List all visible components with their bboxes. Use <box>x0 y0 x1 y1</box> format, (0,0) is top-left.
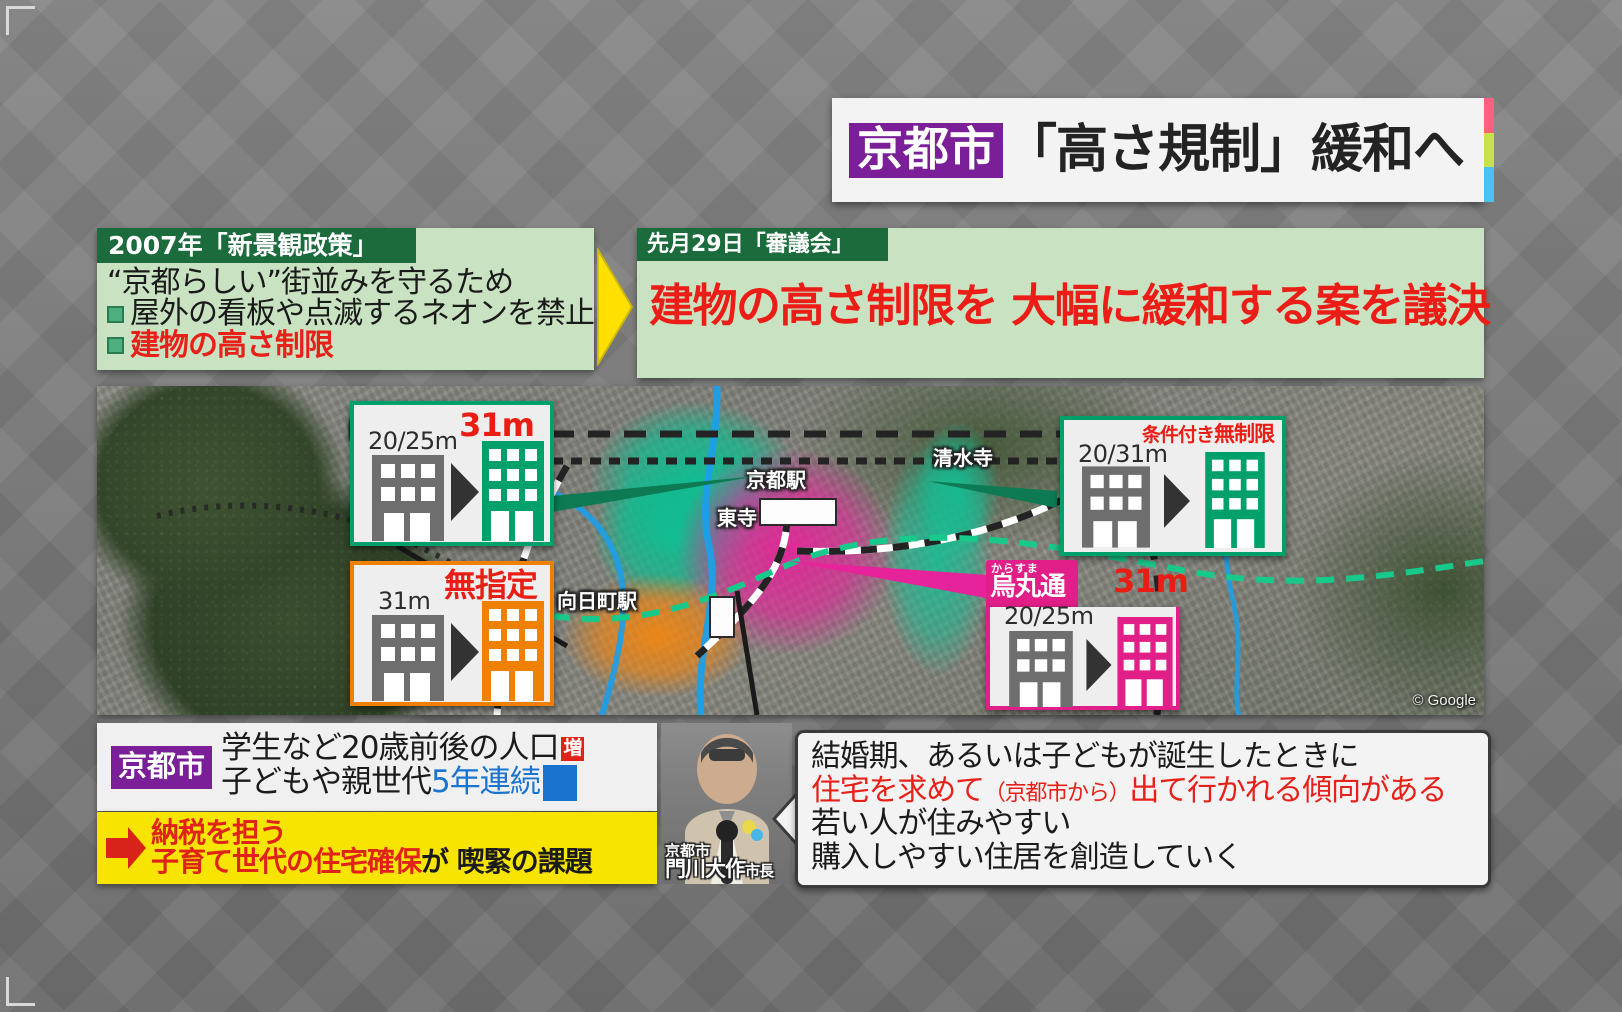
stats-line2-chip: 減 <box>543 765 577 801</box>
building-before-icon <box>1082 466 1150 548</box>
title-color-stripes <box>1484 98 1494 202</box>
panel-2007-tag: 2007年「新景観政策」 <box>97 228 416 263</box>
card-green-left-new-label: 31m <box>459 409 534 441</box>
quote-line-2: 住宅を求めて（京都市から）出て行かれる傾向がある <box>811 774 1488 808</box>
card-green-right-new-label: 条件付き無制限 <box>1142 424 1274 445</box>
quote-line-3: 若い人が住みやすい <box>811 807 1488 841</box>
quote-line2-c: 出て行かれる傾向がある <box>1129 773 1446 808</box>
panel-conclusion: 納税を担う 子育て世代の住宅確保が 喫緊の課題 <box>97 812 657 884</box>
frame-corner-bottom-left <box>6 977 35 1006</box>
bullet-square-icon <box>107 306 124 323</box>
card-pink-old-label: 20/25m <box>1004 604 1094 628</box>
building-after-icon <box>482 441 544 541</box>
stats-line-1: 学生など20歳前後の人口 増 <box>221 733 584 765</box>
card-orange-old-label: 31m <box>378 589 430 613</box>
title-city-badge: 京都市 <box>849 123 1003 178</box>
map-attribution: © Google <box>1412 692 1476 709</box>
stats-line1-chip: 増 <box>561 737 584 761</box>
card-green-left-old-label: 20/25m <box>368 429 458 453</box>
panel-population-stats: 京都市 学生など20歳前後の人口 増 子どもや親世代 5年連続 減 <box>97 723 657 811</box>
building-after-icon <box>1204 452 1266 548</box>
transition-arrow-icon <box>451 463 479 521</box>
building-before-icon <box>372 615 444 701</box>
panel-2007-line1: “京都らしい”街並みを守るため <box>107 267 594 299</box>
map-label-kyoto-station: 京都駅 <box>746 470 806 490</box>
page-title: 京都市 「高さ規制」緩和へ <box>832 98 1484 202</box>
stats-line-2: 子どもや親世代 5年連続 減 <box>221 765 584 801</box>
map-label-mukomachi-station: 向日町駅 <box>557 591 637 611</box>
panel-shingikai-tag: 先月29日「審議会」 <box>637 228 888 261</box>
map-label-kiyomizudera: 清水寺 <box>933 448 993 468</box>
building-before-icon <box>1006 631 1076 707</box>
card-pink-new-label: 31m <box>1113 565 1188 597</box>
red-arrow-icon <box>106 825 146 871</box>
card-green-left[interactable]: 20/25m 31m <box>350 401 554 546</box>
conclusion-line-2: 子育て世代の住宅確保が 喫緊の課題 <box>151 848 592 877</box>
conclusion-line-1: 納税を担う <box>151 819 592 848</box>
card-green-right-new-prefix: 条件付き <box>1142 424 1214 446</box>
quote-line2-a: 住宅を求めて <box>811 773 984 808</box>
building-after-icon <box>1116 617 1174 706</box>
title-headline: 「高さ規制」緩和へ <box>1005 124 1464 176</box>
quote-line-4: 購入しやすい住居を創造していく <box>811 841 1488 875</box>
building-after-icon <box>482 601 544 701</box>
map-label-toji: 東寺 <box>717 508 757 528</box>
conclusion-line2-black: が 喫緊の課題 <box>421 845 592 878</box>
mayor-name: 門川大作市長 <box>665 859 773 881</box>
station-marker <box>709 596 735 638</box>
transition-arrow-icon <box>451 623 479 681</box>
panel-2007-line3: 建物の高さ制限 <box>130 330 333 362</box>
card-orange-new-label: 無指定 <box>444 569 537 601</box>
card-orange[interactable]: 31m 無指定 <box>350 561 554 706</box>
transition-arrow-icon <box>1086 639 1112 691</box>
panel-shingikai-headline: 建物の高さ制限を 大幅に緩和する案を議決 <box>637 261 1484 328</box>
building-before-icon <box>372 455 444 541</box>
panel-2007-policy: 2007年「新景観政策」 “京都らしい”街並みを守るため 屋外の看板や点滅するネ… <box>97 228 594 370</box>
station-marker <box>759 498 837 526</box>
stats-line2-text: 子どもや親世代 <box>221 767 431 799</box>
stats-line2-highlight: 5年連続 <box>431 767 540 799</box>
panel-2007-line2: 屋外の看板や点滅するネオンを禁止 <box>130 298 594 330</box>
card-green-right[interactable]: 20/31m 条件付き無制限 <box>1060 416 1286 556</box>
frame-corner-top-left <box>6 6 35 35</box>
route-tag-karasuma: からすま 烏丸通 <box>986 560 1078 607</box>
transition-arrow-icon <box>1164 474 1190 528</box>
conclusion-line2-red: 子育て世代の住宅確保 <box>151 845 421 878</box>
route-tag-name: 烏丸通 <box>986 574 1078 603</box>
bullet-square-icon <box>107 337 124 354</box>
mayor-caption: 京都市 門川大作市長 <box>665 844 773 881</box>
stats-line1-text: 学生など20歳前後の人口 <box>221 733 558 765</box>
quote-balloon: 結婚期、あるいは子どもが誕生したときに 住宅を求めて（京都市から）出て行かれる傾… <box>795 730 1491 888</box>
panel-shingikai: 先月29日「審議会」 建物の高さ制限を 大幅に緩和する案を議決 <box>637 228 1484 378</box>
quote-line-1: 結婚期、あるいは子どもが誕生したときに <box>811 740 1488 774</box>
yellow-arrow-icon <box>596 248 634 366</box>
stats-city-badge: 京都市 <box>111 746 212 789</box>
card-pink[interactable]: 20/25m <box>986 607 1180 710</box>
quote-line2-paren: （京都市から） <box>984 781 1130 806</box>
